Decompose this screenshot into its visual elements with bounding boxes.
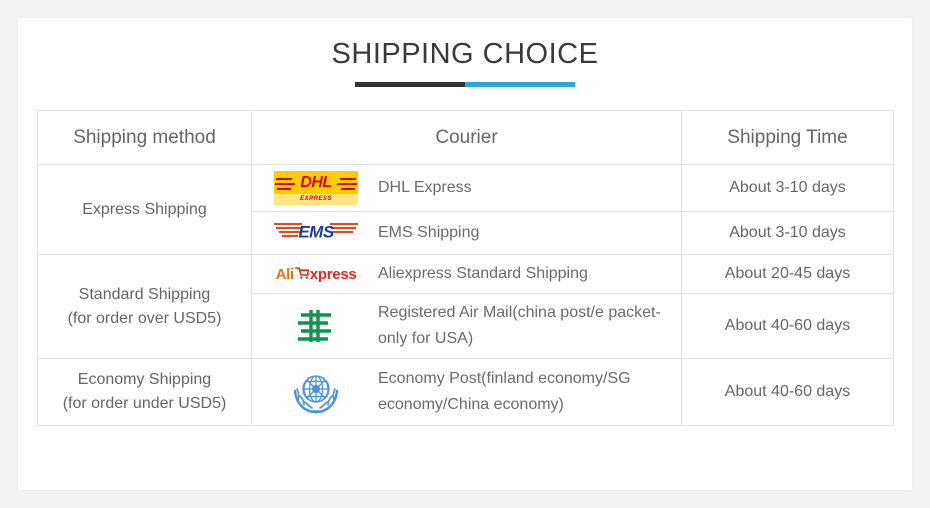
table-header-row: Shipping method Courier Shipping Time	[38, 111, 894, 165]
shipping-table-wrapper: Shipping method Courier Shipping Time Ex…	[37, 110, 893, 426]
shipping-choice-card: SHIPPING CHOICE Shipping method Courier …	[18, 18, 912, 490]
shopping-cart-icon	[295, 266, 310, 283]
ems-logo-text: EMS	[298, 223, 333, 243]
time-cell: About 40-60 days	[682, 294, 894, 359]
courier-cell-economy-post: Economy Post(finland economy/SG economy/…	[252, 359, 682, 426]
courier-label: EMS Shipping	[378, 220, 479, 246]
dhl-logo: DHL EXPRESS	[270, 171, 362, 205]
title-underline-blue	[465, 82, 575, 87]
table-row: Economy Shipping (for order under USD5)	[38, 359, 894, 426]
method-cell-economy: Economy Shipping (for order under USD5)	[38, 359, 252, 426]
courier-label: Economy Post(finland economy/SG economy/…	[378, 366, 671, 418]
time-cell: About 40-60 days	[682, 359, 894, 426]
method-cell-express: Express Shipping	[38, 165, 252, 255]
courier-cell-ems: EMS EMS Shipping	[252, 212, 682, 255]
time-cell: About 3-10 days	[682, 212, 894, 255]
courier-cell-dhl: DHL EXPRESS DHL Express	[252, 165, 682, 212]
page-title: SHIPPING CHOICE	[18, 34, 912, 74]
time-cell: About 20-45 days	[682, 255, 894, 294]
page-background: SHIPPING CHOICE Shipping method Courier …	[0, 0, 930, 508]
un-logo	[270, 365, 362, 419]
title-underline-dark	[355, 82, 465, 87]
method-note: (for order under USD5)	[46, 392, 243, 416]
method-label: Economy Shipping	[46, 368, 243, 392]
courier-cell-aliexpress: Ali	[252, 255, 682, 294]
method-cell-standard: Standard Shipping (for order over USD5)	[38, 255, 252, 359]
method-note: (for order over USD5)	[46, 307, 243, 331]
time-cell: About 3-10 days	[682, 165, 894, 212]
table-row: Standard Shipping (for order over USD5) …	[38, 255, 894, 294]
column-header-shipping-method: Shipping method	[38, 111, 252, 165]
ems-logo: EMS	[270, 218, 362, 248]
aliexpress-logo-part2: xpress	[310, 266, 357, 283]
method-label: Express Shipping	[46, 198, 243, 222]
dhl-logo-text: DHL	[274, 174, 358, 192]
courier-cell-china-post: Registered Air Mail(china post/e packet-…	[252, 294, 682, 359]
column-header-shipping-time: Shipping Time	[682, 111, 894, 165]
courier-label: DHL Express	[378, 175, 472, 201]
title-block: SHIPPING CHOICE	[18, 18, 912, 87]
column-header-courier: Courier	[252, 111, 682, 165]
courier-label: Registered Air Mail(china post/e packet-…	[378, 300, 671, 352]
table-row: Express Shipping DHL	[38, 165, 894, 212]
aliexpress-logo-part1: Ali	[276, 266, 294, 283]
title-underline	[355, 82, 575, 87]
aliexpress-logo: Ali	[270, 266, 362, 283]
china-post-logo	[270, 306, 362, 346]
courier-label: Aliexpress Standard Shipping	[378, 261, 588, 287]
dhl-logo-subtext: EXPRESS	[274, 196, 358, 202]
shipping-table: Shipping method Courier Shipping Time Ex…	[37, 110, 894, 426]
method-label: Standard Shipping	[46, 283, 243, 307]
